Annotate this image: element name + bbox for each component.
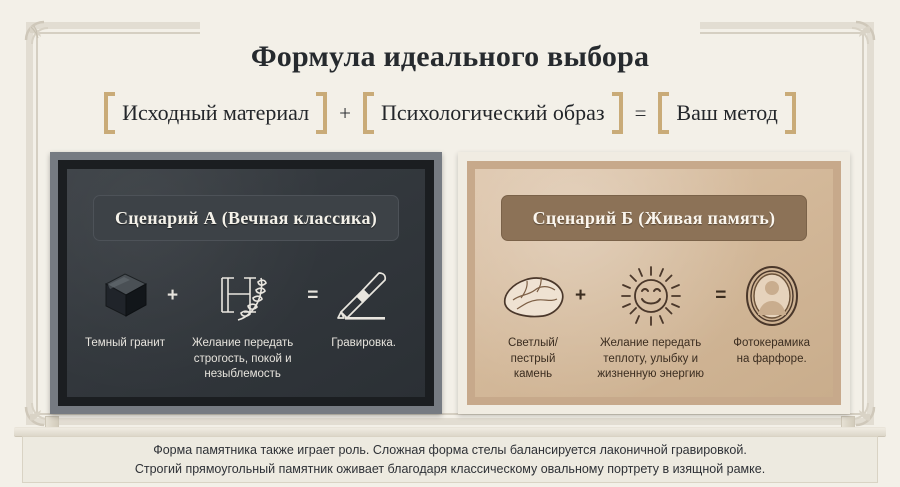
footer-line-2: Строгий прямоугольный памятник оживает б… <box>135 462 765 476</box>
scenario-b-material: Светлый/пестрый камень <box>493 265 573 383</box>
bracket-left-icon <box>658 92 669 134</box>
equation-operator-plus: + <box>165 265 180 327</box>
scenario-panels: Сценарий А (Вечная классика) Темный гран… <box>50 152 850 414</box>
formula-term-material: Исходный материал <box>104 92 327 134</box>
scenario-a-material: Темный гранит <box>85 265 165 352</box>
equation-operator-equals: = <box>305 265 320 327</box>
caption: Темный гранит <box>85 336 165 352</box>
footer-note: Форма памятника также играет роль. Сложн… <box>22 436 878 483</box>
formula-row: Исходный материал + Психологический обра… <box>0 92 900 134</box>
dark-granite-cube-icon <box>96 265 154 327</box>
slide-root: Формула идеального выбора Исходный матер… <box>0 0 900 487</box>
scenario-b-method: Фотокерамика на фарфоре. <box>728 265 815 367</box>
formula-operator-plus: + <box>336 101 354 126</box>
bracket-left-icon <box>363 92 374 134</box>
page-title: Формула идеального выбора <box>0 40 900 74</box>
monogram-laurel-icon <box>208 265 278 327</box>
caption: Фотокерамика на фарфоре. <box>728 336 815 367</box>
equation-operator-plus: + <box>573 265 588 327</box>
oval-porcelain-portrait-icon <box>744 265 800 327</box>
scenario-b-panel: Сценарий Б (Живая память) <box>458 152 850 414</box>
footer-line-1: Форма памятника также играет роль. Сложн… <box>153 443 747 457</box>
caption: Гравировка. <box>331 336 396 352</box>
scenario-b-plaque: Сценарий Б (Живая память) <box>501 195 807 241</box>
bracket-right-icon <box>612 92 623 134</box>
formula-term-label: Ваш метод <box>676 100 777 126</box>
formula-term-label: Психологический образ <box>381 100 605 126</box>
bracket-right-icon <box>316 92 327 134</box>
formula-term-label: Исходный материал <box>122 100 309 126</box>
scenario-a-surface: Сценарий А (Вечная классика) Темный гран… <box>58 160 434 406</box>
formula-term-method: Ваш метод <box>658 92 795 134</box>
scenario-b-equation: Светлый/пестрый камень + <box>493 265 815 383</box>
scenario-a-equation: Темный гранит + <box>85 265 407 383</box>
bracket-right-icon <box>785 92 796 134</box>
scenario-a-panel: Сценарий А (Вечная классика) Темный гран… <box>50 152 442 414</box>
smiling-sun-icon <box>617 265 685 327</box>
caption: Светлый/пестрый камень <box>493 336 573 383</box>
equation-operator-equals: = <box>713 265 728 327</box>
scenario-b-image: Желание передать теплоту, улыбку и жизне… <box>588 265 713 383</box>
scenario-a-plaque: Сценарий А (Вечная классика) <box>93 195 399 241</box>
chisel-engraving-icon <box>331 265 397 327</box>
formula-operator-equals: = <box>632 101 650 126</box>
bracket-left-icon <box>104 92 115 134</box>
caption: Желание передать теплоту, улыбку и жизне… <box>588 336 713 383</box>
scenario-a-image: Желание передать строгость, покой и незы… <box>180 265 305 383</box>
scenario-b-surface: Сценарий Б (Живая память) <box>467 161 841 405</box>
formula-term-image: Психологический образ <box>363 92 623 134</box>
light-stone-rock-icon <box>497 265 569 327</box>
caption: Желание передать строгость, покой и незы… <box>180 336 305 383</box>
scenario-a-method: Гравировка. <box>320 265 407 352</box>
